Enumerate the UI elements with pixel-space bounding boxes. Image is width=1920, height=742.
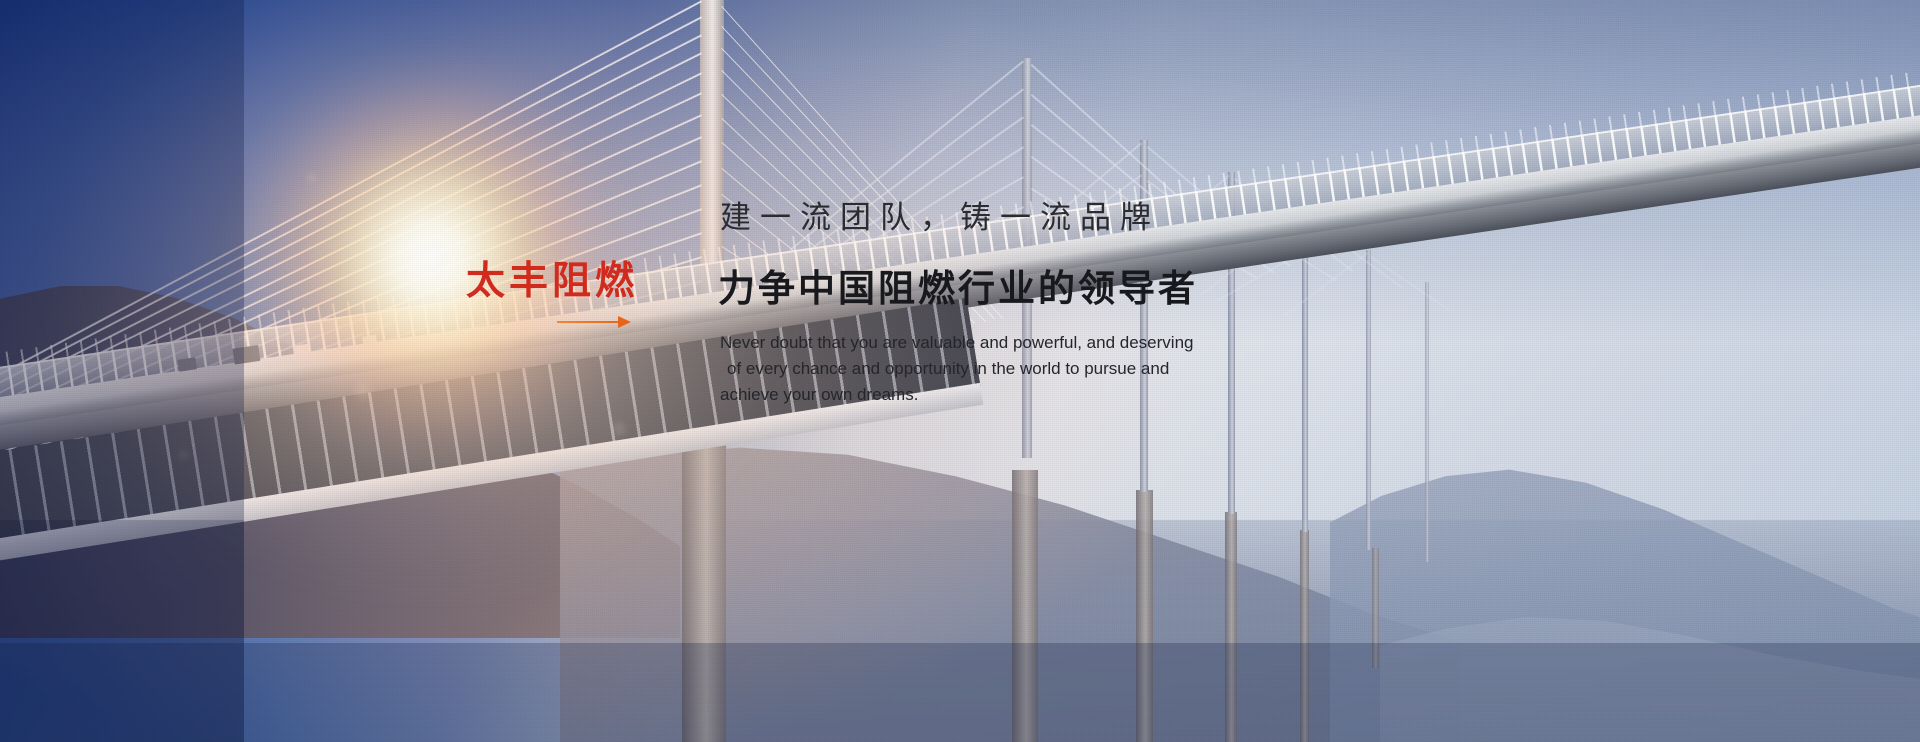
arrow-shaft (557, 321, 623, 323)
subcopy-line-1: Never doubt that you are valuable and po… (720, 330, 1340, 356)
subcopy-paragraph: Never doubt that you are valuable and po… (720, 330, 1340, 408)
subcopy-line-2: of every chance and opportunity in the w… (720, 356, 1340, 382)
hero-banner: 太丰阻燃 建一流团队，铸一流品牌 力争中国阻燃行业的领导者 Never doub… (0, 0, 1920, 742)
arrow-head (618, 316, 631, 328)
banner-content: 太丰阻燃 建一流团队，铸一流品牌 力争中国阻燃行业的领导者 Never doub… (0, 0, 1920, 742)
brand-logo[interactable]: 太丰阻燃 (466, 262, 638, 328)
headline-secondary: 力争中国阻燃行业的领导者 (718, 258, 1198, 312)
subcopy-line-3: achieve your own dreams. (720, 382, 1340, 408)
headline-primary: 建一流团队，铸一流品牌 (720, 192, 1160, 237)
arrow-right-icon (557, 316, 631, 328)
brand-logo-text: 太丰阻燃 (466, 262, 638, 301)
